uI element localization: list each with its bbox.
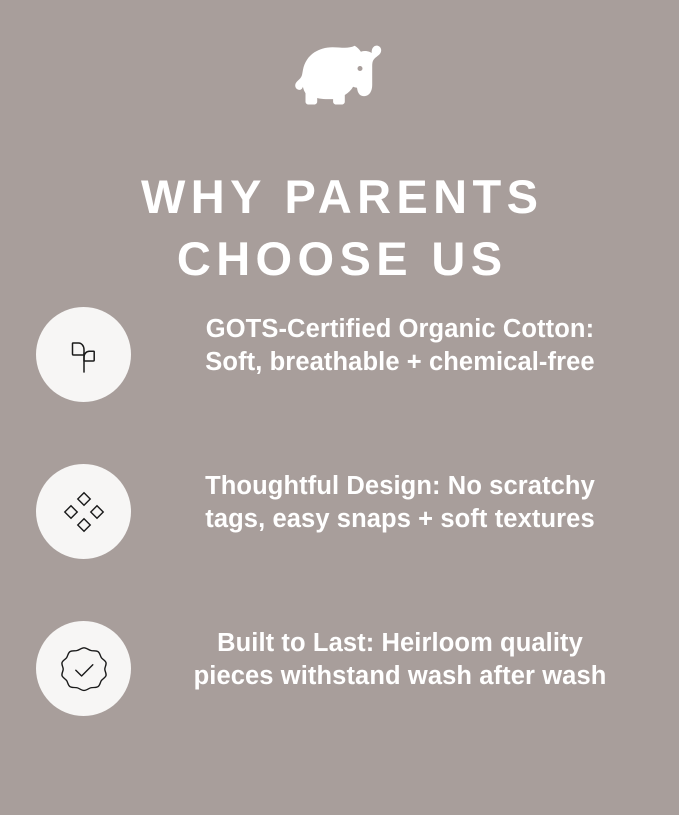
badge-check-icon — [59, 644, 109, 694]
sprout-leaf-icon — [60, 331, 108, 379]
feature-item-built-to-last: Built to Last: Heirloom quality pieces w… — [0, 621, 679, 778]
page-title-line-2: CHOOSE US — [0, 228, 679, 290]
feature-text-line-2: Soft, breathable + chemical-free — [150, 346, 650, 379]
feature-icon-circle — [36, 307, 131, 402]
feature-text-line-1: Thoughtful Design: No scratchy — [150, 470, 650, 503]
feature-text: Thoughtful Design: No scratchy tags, eas… — [150, 470, 650, 536]
feature-text: Built to Last: Heirloom quality pieces w… — [150, 627, 650, 693]
brand-logo — [0, 34, 679, 114]
feature-item-organic-cotton: GOTS-Certified Organic Cotton: Soft, bre… — [0, 307, 679, 464]
feature-icon-circle — [36, 464, 131, 559]
page-title-line-1: WHY PARENTS — [0, 166, 679, 228]
feature-text-line-1: Built to Last: Heirloom quality — [150, 627, 650, 660]
feature-text-line-2: pieces withstand wash after wash — [150, 660, 650, 693]
feature-list: GOTS-Certified Organic Cotton: Soft, bre… — [0, 307, 679, 778]
feature-text-line-2: tags, easy snaps + soft textures — [150, 503, 650, 536]
feature-icon-circle — [36, 621, 131, 716]
elephant-icon — [288, 38, 392, 110]
feature-text: GOTS-Certified Organic Cotton: Soft, bre… — [150, 313, 650, 379]
feature-text-line-1: GOTS-Certified Organic Cotton: — [150, 313, 650, 346]
feature-item-thoughtful-design: Thoughtful Design: No scratchy tags, eas… — [0, 464, 679, 621]
snaps-diamonds-icon — [61, 489, 107, 535]
page-title: WHY PARENTS CHOOSE US — [0, 166, 679, 290]
